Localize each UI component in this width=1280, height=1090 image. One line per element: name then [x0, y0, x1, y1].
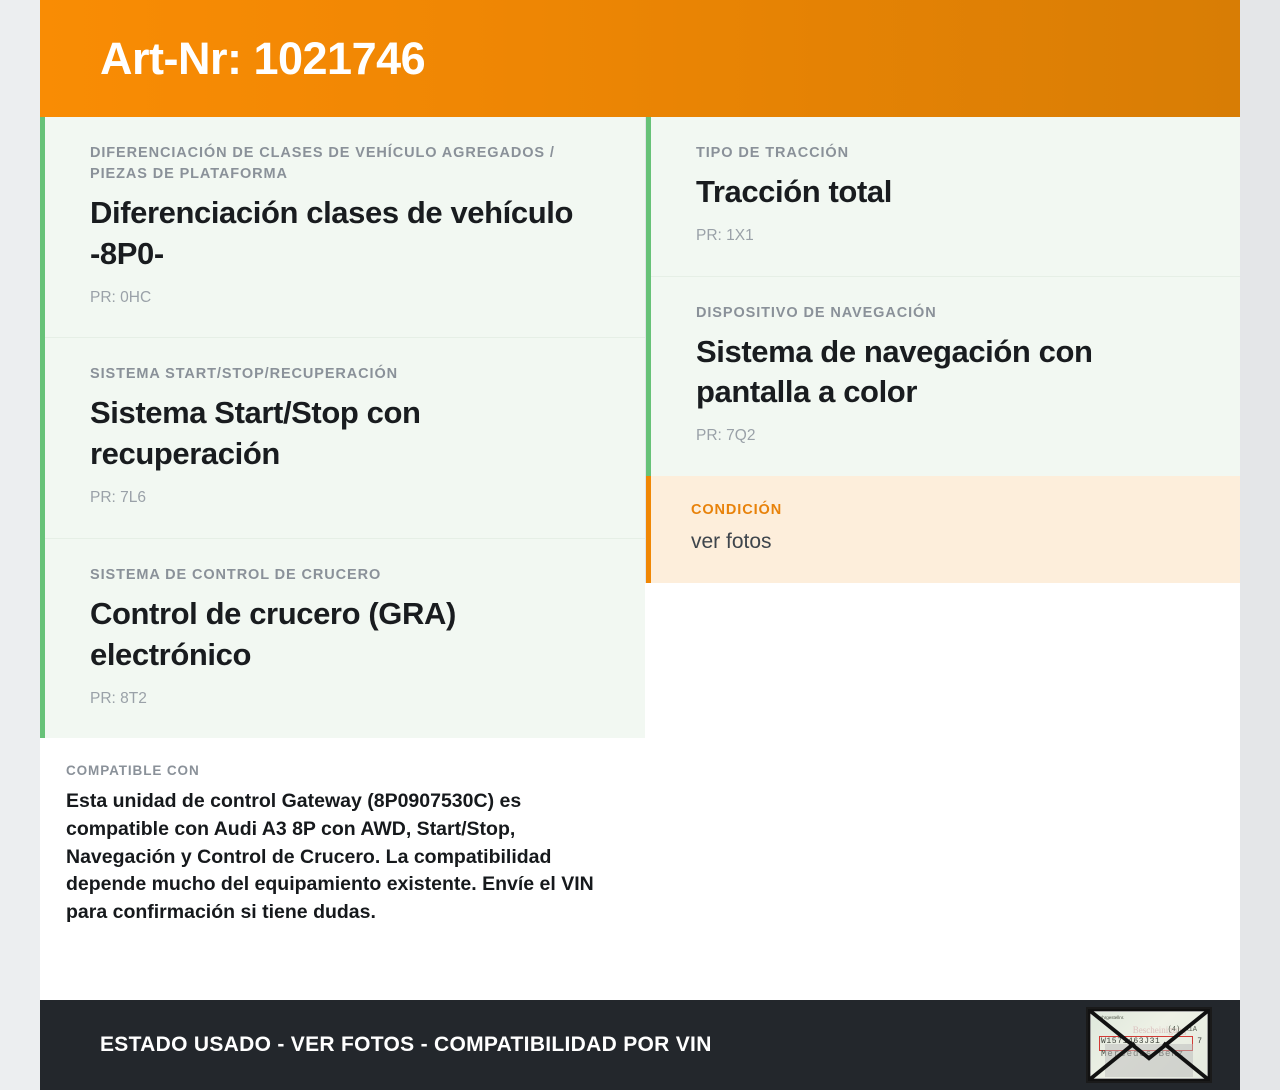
spec-label: SISTEMA DE CONTROL DE CRUCERO: [90, 565, 601, 586]
spec-title: Sistema de navegación con pantalla a col…: [696, 332, 1196, 414]
left-column: DIFERENCIACIÓN DE CLASES DE VEHÍCULO AGR…: [40, 117, 645, 957]
condition-label: CONDICIÓN: [691, 500, 1196, 521]
spec-title: Diferenciación clases de vehículo -8P0-: [90, 193, 601, 275]
envelope-icon: [1088, 1009, 1210, 1081]
spec-code: PR: 1X1: [696, 227, 1196, 246]
spec-label: SISTEMA START/STOP/RECUPERACIÓN: [90, 364, 601, 385]
footer-bar: ESTADO USADO - VER FOTOS - COMPATIBILIDA…: [40, 1000, 1240, 1090]
spec-title: Control de crucero (GRA) electrónico: [90, 594, 601, 676]
spec-code: PR: 0HC: [90, 289, 601, 308]
page-title: Art-Nr: 1021746: [100, 36, 425, 81]
content-area: DIFERENCIACIÓN DE CLASES DE VEHÍCULO AGR…: [40, 117, 1240, 1000]
listing-panel: Art-Nr: 1021746 DIFERENCIACIÓN DE CLASES…: [40, 0, 1240, 1090]
spec-card[interactable]: SISTEMA DE CONTROL DE CRUCERO Control de…: [45, 539, 645, 738]
page-root: Art-Nr: 1021746 DIFERENCIACIÓN DE CLASES…: [0, 0, 1280, 1090]
compatibility-label: COMPATIBLE CON: [66, 763, 600, 778]
spec-code: PR: 8T2: [90, 690, 601, 709]
spec-label: DIFERENCIACIÓN DE CLASES DE VEHÍCULO AGR…: [90, 143, 601, 185]
spec-label: DISPOSITIVO DE NAVEGACIÓN: [696, 303, 1196, 324]
spec-card[interactable]: DISPOSITIVO DE NAVEGACIÓN Sistema de nav…: [651, 277, 1240, 476]
header-bar: Art-Nr: 1021746: [40, 0, 1240, 117]
right-column: TIPO DE TRACCIÓN Tracción total PR: 1X1 …: [645, 117, 1240, 583]
right-spec-cards: TIPO DE TRACCIÓN Tracción total PR: 1X1 …: [646, 117, 1240, 476]
spec-title: Tracción total: [696, 172, 1196, 213]
spec-code: PR: 7Q2: [696, 427, 1196, 446]
spec-card[interactable]: TIPO DE TRACCIÓN Tracción total PR: 1X1: [651, 117, 1240, 277]
spec-card[interactable]: DIFERENCIACIÓN DE CLASES DE VEHÍCULO AGR…: [45, 117, 645, 338]
footer-text: ESTADO USADO - VER FOTOS - COMPATIBILIDA…: [100, 1033, 712, 1057]
spec-label: TIPO DE TRACCIÓN: [696, 143, 1196, 164]
compatibility-text: Esta unidad de control Gateway (8P090753…: [66, 788, 600, 926]
spec-card[interactable]: SISTEMA START/STOP/RECUPERACIÓN Sistema …: [45, 338, 645, 538]
compatibility-section: COMPATIBLE CON Esta unidad de control Ga…: [40, 738, 645, 956]
spec-code: PR: 7L6: [90, 489, 601, 508]
condition-card[interactable]: CONDICIÓN ver fotos: [646, 476, 1240, 583]
left-spec-cards: DIFERENCIACIÓN DE CLASES DE VEHÍCULO AGR…: [40, 117, 645, 738]
condition-value: ver fotos: [691, 528, 1196, 555]
vin-envelope-thumbnail[interactable]: Fahrgestellnr. Bescheinigung (4) AıA W15…: [1086, 1007, 1212, 1083]
spec-title: Sistema Start/Stop con recuperación: [90, 393, 601, 475]
